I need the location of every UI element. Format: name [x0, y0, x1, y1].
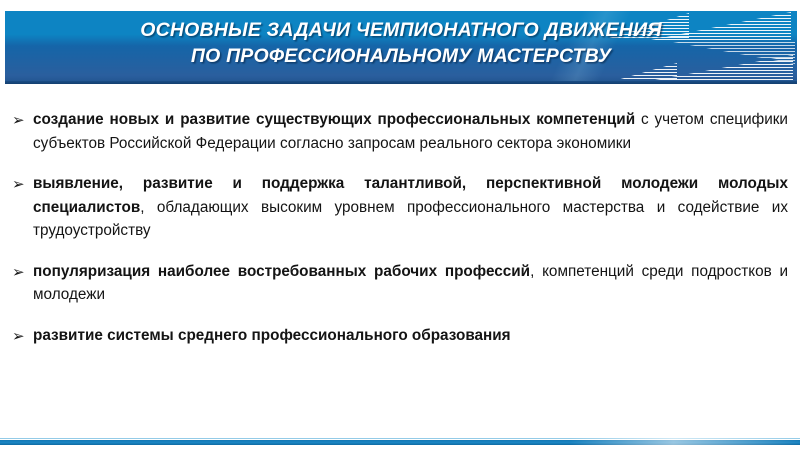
- list-item-text-bold: популяризация наиболее востребованных ра…: [33, 263, 530, 280]
- list-item-text-bold: создание новых и развитие существующих п…: [33, 111, 635, 128]
- list-item: ➢ создание новых и развитие существующих…: [12, 108, 788, 155]
- list-item-text-regular: , обладающих высоким уровнем профессиона…: [33, 199, 788, 240]
- list-item-text: популяризация наиболее востребованных ра…: [33, 260, 788, 307]
- list-item: ➢ популяризация наиболее востребованных …: [12, 260, 788, 307]
- list-item: ➢ развитие системы среднего профессионал…: [12, 324, 788, 348]
- bullet-list: ➢ создание новых и развитие существующих…: [12, 108, 788, 365]
- list-item: ➢ выявление, развитие и поддержка талант…: [12, 172, 788, 243]
- list-item-text-bold: развитие системы среднего профессиональн…: [33, 327, 511, 344]
- arrowhead-bullet-icon: ➢: [12, 108, 33, 132]
- arrowhead-bullet-icon: ➢: [12, 260, 33, 284]
- list-item-text: создание новых и развитие существующих п…: [33, 108, 788, 155]
- title-banner: ОСНОВНЫЕ ЗАДАЧИ ЧЕМПИОНАТНОГО ДВИЖЕНИЯ П…: [5, 11, 797, 84]
- slide-title-line-1: ОСНОВНЫЕ ЗАДАЧИ ЧЕМПИОНАТНОГО ДВИЖЕНИЯ: [140, 19, 662, 41]
- slide-title-line-2: ПО ПРОФЕССИОНАЛЬНОМУ МАСТЕРСТВУ: [5, 43, 797, 69]
- slide-canvas: { "slide": { "title": { "line1": "ОСНОВН…: [0, 0, 800, 450]
- footer-swoosh: [570, 438, 800, 447]
- footer-decoration: [0, 438, 800, 447]
- list-item-text: развитие системы среднего профессиональн…: [33, 324, 788, 348]
- arrowhead-bullet-icon: ➢: [12, 172, 33, 196]
- arrowhead-bullet-icon: ➢: [12, 324, 33, 348]
- list-item-text: выявление, развитие и поддержка талантли…: [33, 172, 788, 243]
- slide-title: ОСНОВНЫЕ ЗАДАЧИ ЧЕМПИОНАТНОГО ДВИЖЕНИЯ П…: [5, 17, 797, 69]
